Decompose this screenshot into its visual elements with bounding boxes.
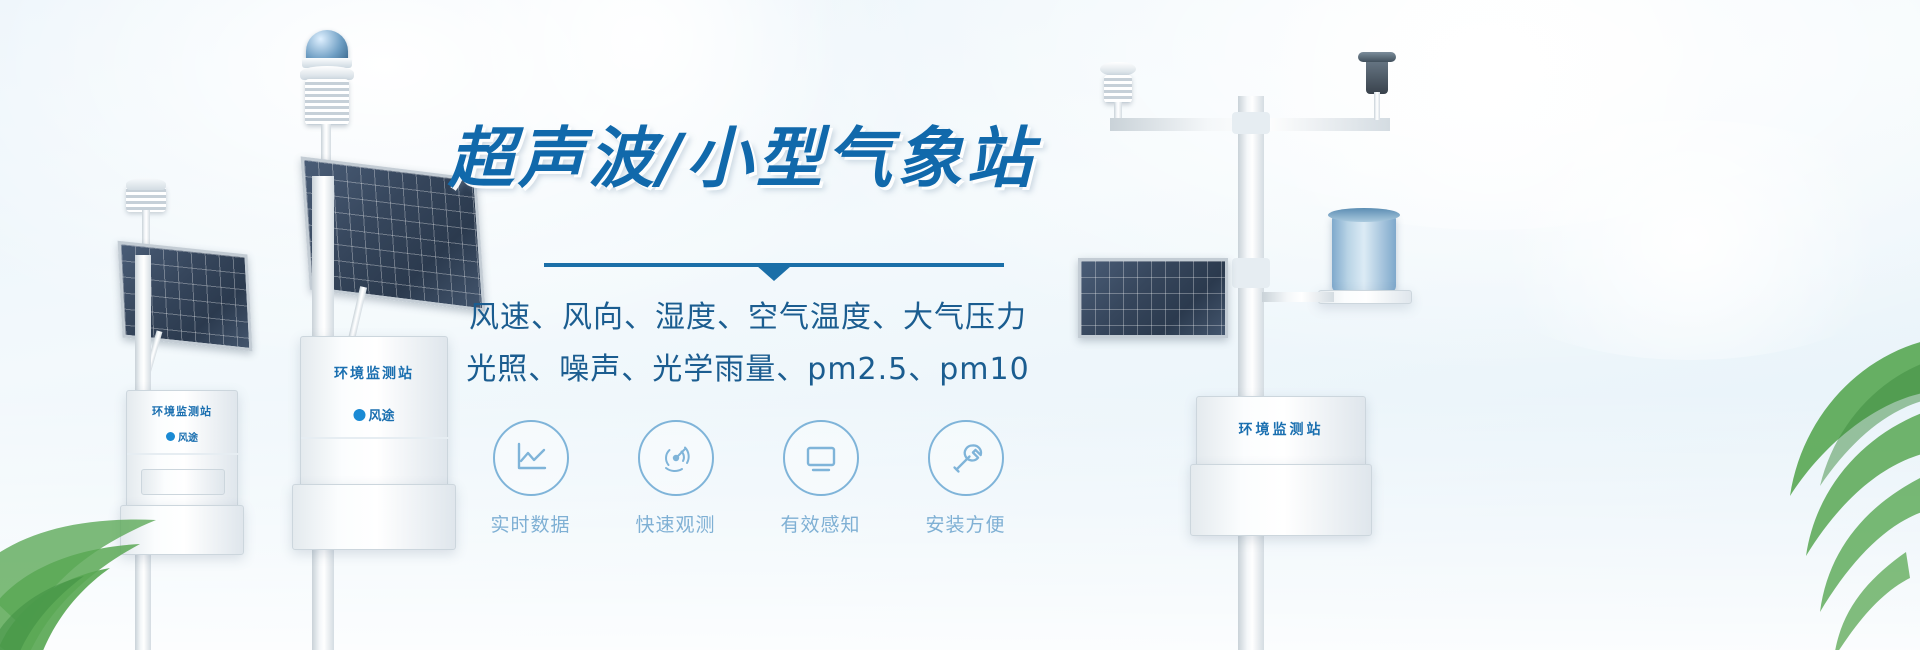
brand-logo: 风途 (166, 429, 198, 444)
subtitle-line-2: 光照、噪声、光学雨量、pm2.5、pm10 (448, 344, 1048, 388)
feature-label: 安装方便 (925, 510, 1005, 537)
feature-icon-ring (493, 420, 569, 496)
wind-vane-cup-icon (1358, 52, 1396, 62)
cabinet-label: 环境监测站 (301, 363, 447, 383)
leaf-decoration-right (1670, 300, 1920, 650)
divider-triangle-icon (757, 266, 791, 281)
page-title: 超声波/小型气象站 (448, 126, 1036, 192)
brand-logo: 风途 (353, 405, 394, 424)
feature-label: 实时数据 (490, 510, 570, 537)
brand-name: 风途 (368, 405, 394, 424)
radiation-shield-sensor (1104, 75, 1132, 103)
monitoring-cabinet: 环境监测站 (1196, 396, 1366, 470)
ultrasonic-wind-sensor (1100, 62, 1136, 76)
title-divider (544, 263, 1004, 267)
feature-label: 有效感知 (780, 510, 860, 537)
rain-gauge-sensor (1332, 214, 1396, 292)
station-mast (1238, 96, 1264, 650)
mast-collar (1232, 258, 1270, 288)
feature-item-fast-observation[interactable]: 快速观测 (623, 420, 728, 537)
feature-icon-ring (783, 420, 859, 496)
feature-item-realtime-data[interactable]: 实时数据 (478, 420, 583, 537)
shield-top-cap (300, 66, 354, 80)
brand-name: 风途 (178, 429, 198, 444)
feature-item-effective-sensing[interactable]: 有效感知 (768, 420, 873, 537)
feature-label: 快速观测 (635, 510, 715, 537)
feature-icon-ring (928, 420, 1004, 496)
cabinet-base (292, 484, 456, 550)
radiation-shield-sensor (305, 79, 349, 125)
cabinet-lower-body (1190, 464, 1372, 536)
banner-content: 超声波/小型气象站 风速、风向、湿度、空气温度、大气压力 光照、噪声、光学雨量、… (448, 108, 1048, 538)
feature-item-easy-installation[interactable]: 安装方便 (913, 420, 1018, 537)
rain-gauge-rim (1328, 208, 1400, 222)
monitor-screen-icon (800, 437, 842, 479)
rain-gauge-arm (1262, 292, 1334, 302)
subtitle-line-1: 风速、风向、湿度、空气温度、大气压力 (448, 292, 1048, 336)
monitoring-cabinet: 环境监测站 风途 (300, 336, 448, 488)
cabinet-seam (301, 437, 449, 439)
solar-panel (1078, 258, 1228, 338)
mast-collar (1232, 112, 1270, 134)
cabinet-label: 环境监测站 (1197, 419, 1365, 439)
vane-stem (1374, 92, 1380, 120)
line-chart-icon (510, 437, 552, 479)
leaf-decoration-left (0, 330, 170, 650)
brand-mark-icon (353, 409, 365, 421)
wind-vane-sensor (1366, 58, 1388, 94)
banner-stage: 环境监测站 风途 环境监测站 风途 (0, 0, 1920, 650)
feature-icon-ring (638, 420, 714, 496)
wrench-icon (945, 437, 987, 479)
feature-list: 实时数据 快速观测 (448, 420, 1048, 537)
radar-signal-icon (655, 437, 697, 479)
sensor-cap (126, 178, 166, 190)
